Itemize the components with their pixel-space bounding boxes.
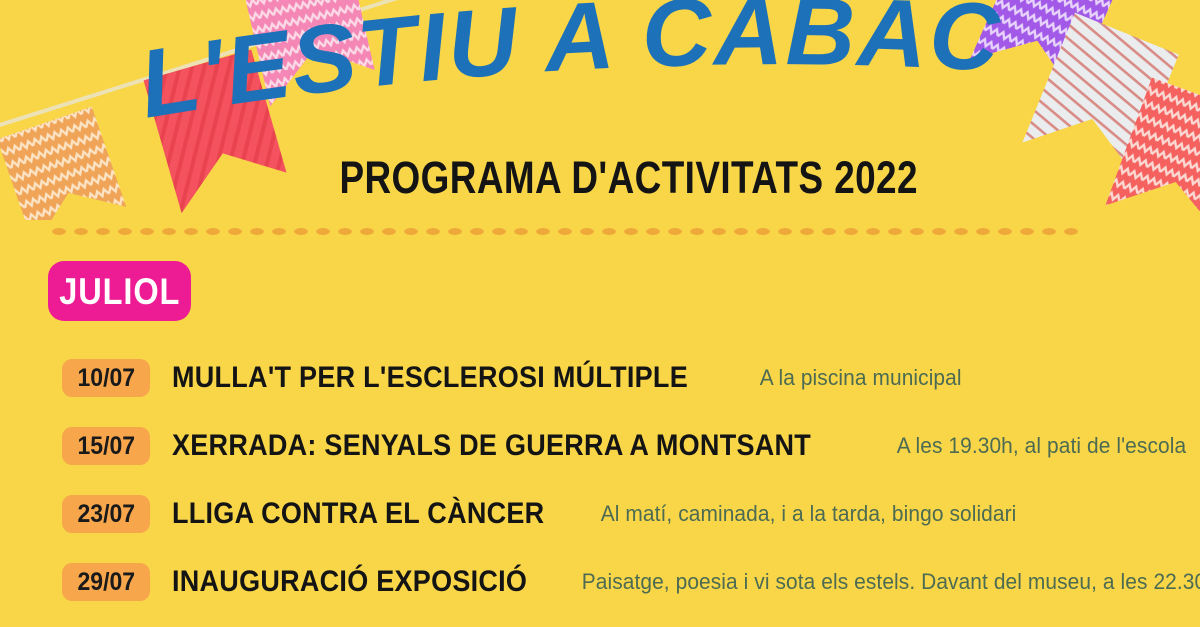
event-date-badge: 15/07 <box>62 427 150 465</box>
event-row[interactable]: 10/07 MULLA'T PER L'ESCLEROSI MÚLTIPLE A… <box>0 344 1200 412</box>
event-title: INAUGURACIÓ EXPOSICIÓ <box>172 566 527 598</box>
event-description: A les 19.30h, al pati de l'escola <box>872 433 1186 459</box>
month-badge-label: JULIOL <box>59 273 180 310</box>
event-row[interactable]: 23/07 LLIGA CONTRA EL CÀNCER Al matí, ca… <box>0 480 1200 548</box>
event-date-badge: 10/07 <box>62 359 150 397</box>
poster-subtitle: PROGRAMA D'ACTIVITATS 2022 <box>108 152 1092 204</box>
poster-canvas: L'ESTIU A CABACÉS PROGRAMA D'ACTIVITATS … <box>0 0 1200 627</box>
page-title: L'ESTIU A CABACÉS <box>140 26 1020 146</box>
event-date-label: 23/07 <box>77 502 135 527</box>
dotted-divider <box>48 226 1078 237</box>
event-description: A la piscina municipal <box>735 365 962 391</box>
poster-header: L'ESTIU A CABACÉS PROGRAMA D'ACTIVITATS … <box>0 0 1200 215</box>
event-date-badge: 23/07 <box>62 495 150 533</box>
event-date-label: 10/07 <box>77 366 135 391</box>
month-badge-juliol: JULIOL <box>48 261 191 321</box>
event-description: Paisatge, poesia i vi sota els estels. D… <box>557 569 1200 595</box>
svg-text:L'ESTIU A CABACÉS: L'ESTIU A CABACÉS <box>107 0 1004 139</box>
event-title: MULLA'T PER L'ESCLEROSI MÚLTIPLE <box>172 362 688 394</box>
event-date-label: 29/07 <box>77 570 135 595</box>
event-title: XERRADA: SENYALS DE GUERRA A MONTSANT <box>172 430 811 462</box>
event-row[interactable]: 15/07 XERRADA: SENYALS DE GUERRA A MONTS… <box>0 412 1200 480</box>
event-list: 10/07 MULLA'T PER L'ESCLEROSI MÚLTIPLE A… <box>0 344 1200 627</box>
page-title-text: L'ESTIU A CABACÉS <box>107 0 1004 139</box>
event-row-partial[interactable] <box>0 616 1200 627</box>
event-row[interactable]: 29/07 INAUGURACIÓ EXPOSICIÓ Paisatge, po… <box>0 548 1200 616</box>
event-date-label: 15/07 <box>77 434 135 459</box>
event-title: LLIGA CONTRA EL CÀNCER <box>172 498 544 530</box>
event-description: Al matí, caminada, i a la tarda, bingo s… <box>576 501 1016 527</box>
event-date-badge: 29/07 <box>62 563 150 601</box>
